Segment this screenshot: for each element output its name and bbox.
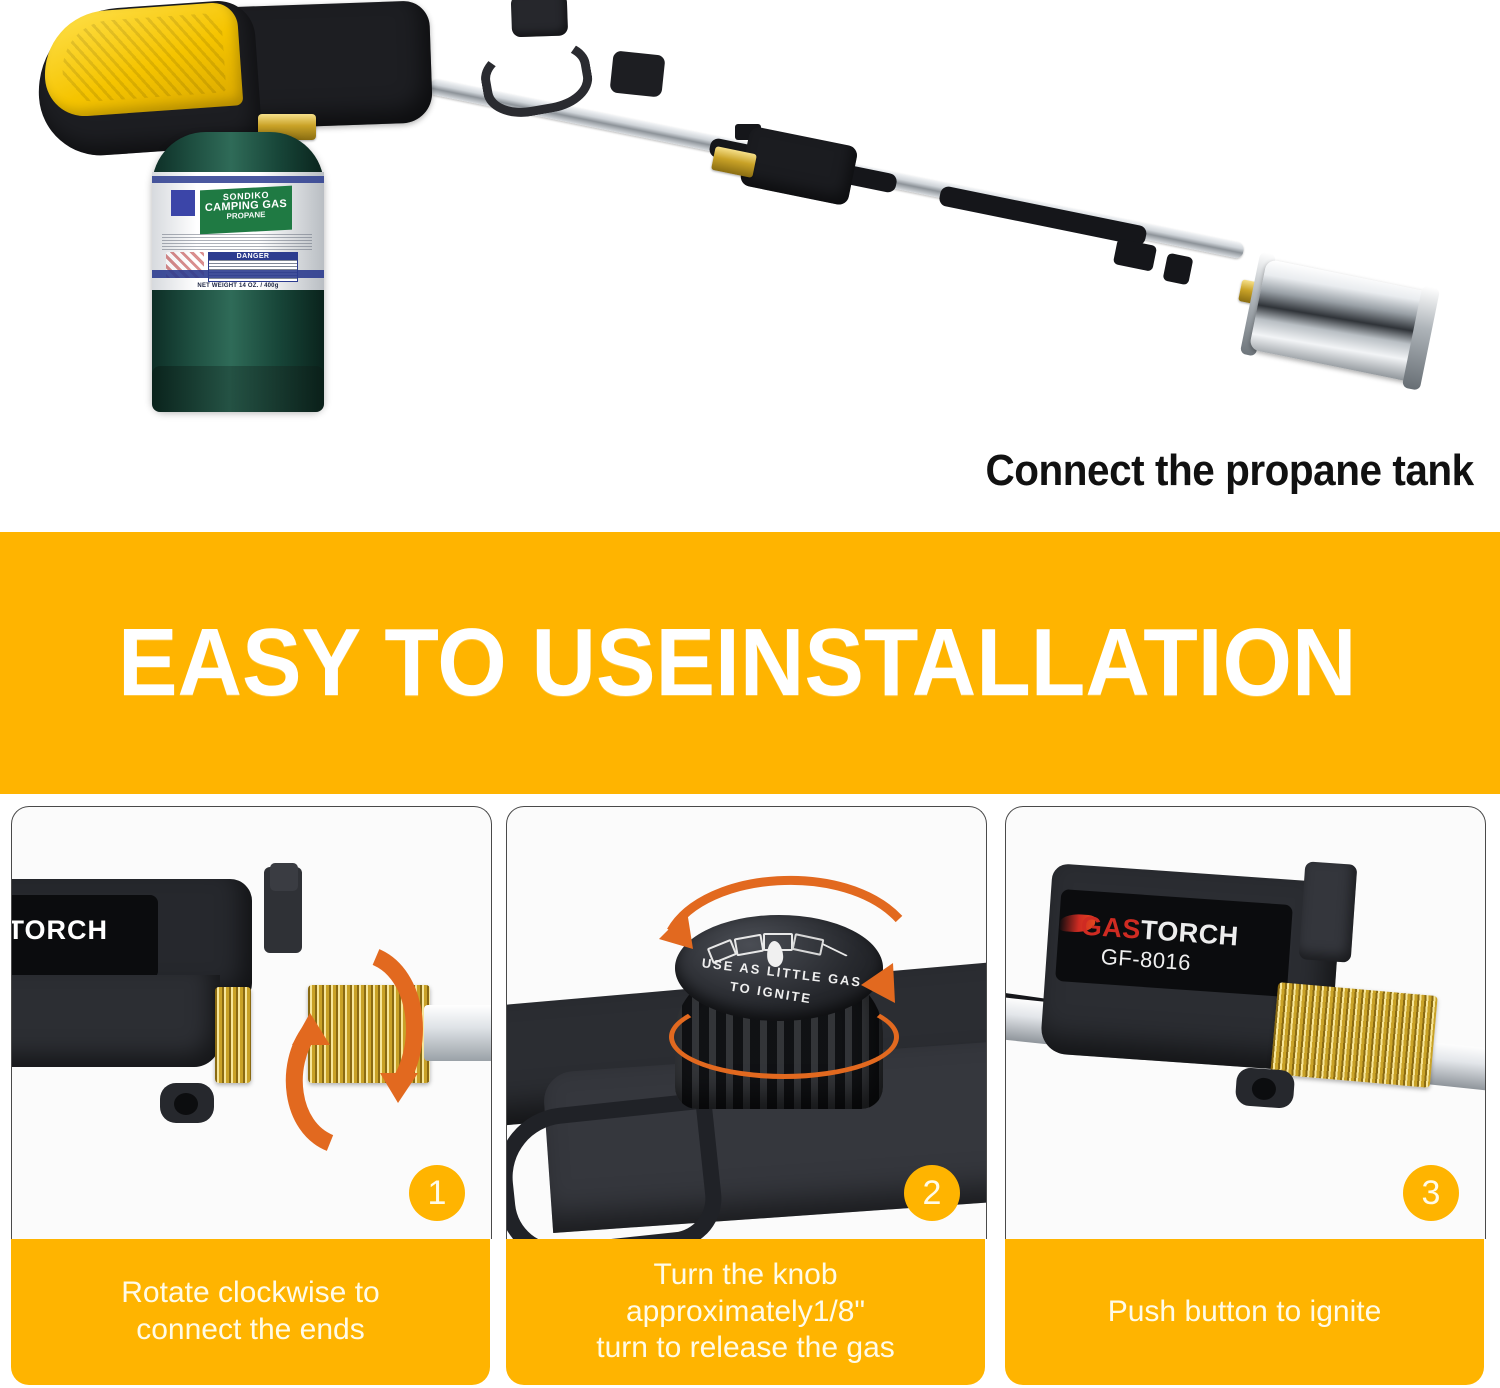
step3-model-text: GF-8016 — [1100, 944, 1192, 976]
torch-handle-yellow-grip — [41, 1, 244, 118]
step-card-2: USE AS LITTLE GAS TO IGNITE 2 Turn the k… — [506, 806, 985, 1384]
wand-collar-1 — [1113, 238, 1157, 271]
step3-brand-red: GAS — [1080, 911, 1142, 945]
step-card-1: GASTORCH GF-8016 1 Rot — [11, 806, 490, 1384]
propane-tank-base — [152, 366, 324, 412]
steps-row: GASTORCH GF-8016 1 Rot — [0, 806, 1500, 1388]
step3-brand-white: TORCH — [1140, 915, 1240, 952]
step3-ignition-button — [1299, 861, 1358, 962]
step1-ignition-button-cap — [270, 863, 298, 891]
wand-collar-2 — [1162, 253, 1193, 286]
step1-mount-lug — [160, 1083, 214, 1123]
step2-trigger-guard — [506, 1092, 726, 1239]
headline-banner: EASY TO USEINSTALLATION — [0, 532, 1500, 794]
label-blue-stripe-bottom — [152, 270, 324, 278]
step2-rotate-arrow-bottom — [837, 957, 927, 1047]
step-3-caption: Push button to ignite — [1005, 1239, 1484, 1385]
step3-mount-lug — [1235, 1067, 1296, 1109]
hero-caption: Connect the propane tank — [986, 446, 1474, 496]
gas-adjust-knob — [511, 0, 568, 37]
step3-brass-coupling — [1270, 982, 1437, 1088]
headline-banner-text: EASY TO USEINSTALLATION — [118, 608, 1356, 718]
step1-brand-white: TORCH — [11, 915, 108, 945]
step-1-photo: GASTORCH GF-8016 1 — [11, 806, 492, 1239]
label-net-weight: NET WEIGHT 14 OZ. / 400g — [152, 283, 324, 289]
step1-device-belly — [11, 975, 220, 1067]
wand-grip-sleeve-2 — [938, 185, 1148, 246]
step-3-badge: 3 — [1403, 1165, 1459, 1221]
propane-torch-illustration: SONDIKO CAMPING GAS PROPANE DANGER NET W… — [0, 0, 1500, 440]
step1-brand-text: GASTORCH — [11, 915, 108, 946]
hero-product-section: SONDIKO CAMPING GAS PROPANE DANGER NET W… — [0, 0, 1500, 532]
label-danger-header: DANGER — [209, 253, 297, 260]
label-blue-square — [171, 190, 195, 216]
label-fineprint — [162, 234, 312, 250]
propane-tank-label: SONDIKO CAMPING GAS PROPANE DANGER NET W… — [152, 172, 324, 290]
label-blue-stripe-top — [152, 176, 324, 183]
step-3-photo: GASTORCH GF-8016 3 — [1005, 806, 1486, 1239]
label-green-block: SONDIKO CAMPING GAS PROPANE — [200, 186, 292, 235]
infographic-page: SONDIKO CAMPING GAS PROPANE DANGER NET W… — [0, 0, 1500, 1388]
torch-head-snout — [609, 50, 665, 97]
step-card-3: GASTORCH GF-8016 3 Push button to ignite — [1005, 806, 1484, 1384]
step3-brand-plate: GASTORCH GF-8016 — [1055, 889, 1293, 997]
step1-brass-fitting-left — [215, 987, 251, 1083]
step-1-caption: Rotate clockwise to connect the ends — [11, 1239, 490, 1385]
step1-model-text: GF-8016 — [11, 943, 12, 960]
step-1-badge: 1 — [409, 1165, 465, 1221]
step1-rotate-arrows — [258, 935, 458, 1165]
step-2-badge: 2 — [904, 1165, 960, 1221]
step-2-caption: Turn the knob approximately1/8" turn to … — [506, 1239, 985, 1385]
inline-ignition-module — [739, 126, 859, 207]
step-2-photo: USE AS LITTLE GAS TO IGNITE 2 — [506, 806, 987, 1239]
step1-brand-plate: GASTORCH GF-8016 — [11, 895, 158, 979]
